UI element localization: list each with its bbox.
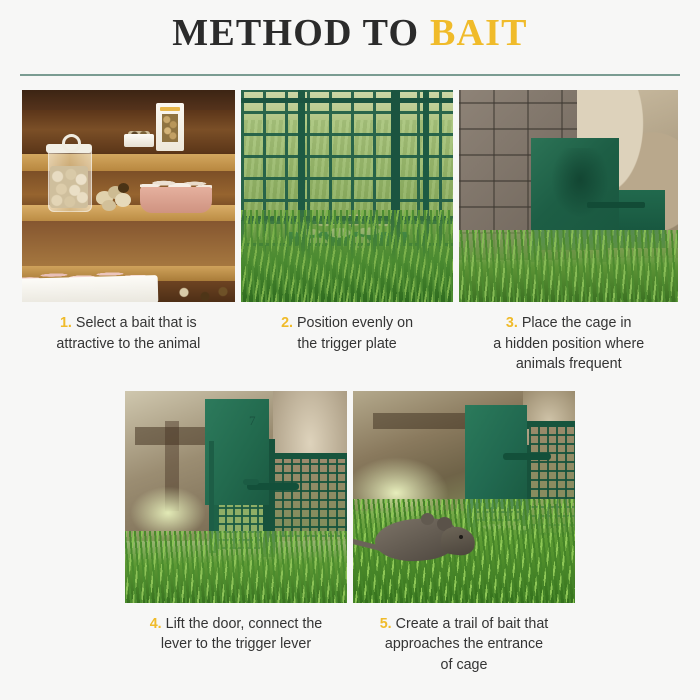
step-2-photo <box>241 90 454 302</box>
step-2-number: 2. <box>281 315 293 331</box>
step-4-line-2: lever to the trigger lever <box>161 636 311 652</box>
foreground-grass <box>459 230 678 302</box>
page-title-main: METHOD TO <box>172 12 430 54</box>
loose-nut <box>118 183 129 193</box>
trigger-lever <box>503 453 551 460</box>
step-card-4: 7 4. Lift the door, connect the lever to… <box>125 391 347 676</box>
step-3-number: 3. <box>506 315 518 331</box>
step-3-line-2: a hidden position where <box>493 336 644 352</box>
step-card-2: 2. Position evenly on the trigger plate <box>241 90 454 375</box>
step-5-caption: 5. Create a trail of bait that approache… <box>353 614 575 676</box>
step-3-line-1: Place the cage in <box>522 315 632 331</box>
scattered-bait <box>172 286 232 302</box>
step-4-caption: 4. Lift the door, connect the lever to t… <box>125 614 347 655</box>
rodent-eye <box>459 535 463 539</box>
rodent-ear <box>421 513 434 525</box>
seed-bag-window <box>162 114 178 142</box>
step-2-line-2: the trigger plate <box>297 336 396 352</box>
trap-lever-bar <box>587 202 645 208</box>
step-card-3: 3. Place the cage in a hidden position w… <box>459 90 678 375</box>
loose-nut <box>102 200 116 211</box>
door-number-marking: 7 <box>249 413 256 429</box>
step-2-caption: 2. Position evenly on the trigger plate <box>241 313 454 354</box>
cage-body-mesh <box>273 459 347 537</box>
step-card-5: 5. Create a trail of bait that approache… <box>353 391 575 676</box>
small-dish <box>124 134 154 147</box>
seed-bag-label <box>160 107 180 111</box>
page-title: METHOD TO BAIT <box>172 14 527 52</box>
foreground-grass <box>241 210 454 302</box>
step-1-number: 1. <box>60 315 72 331</box>
shelf-back-lower <box>22 221 235 266</box>
cage-rail-top <box>241 98 454 103</box>
step-5-line-1: Create a trail of bait that <box>396 616 549 632</box>
jar-nuts <box>50 166 88 208</box>
page-header: METHOD TO BAIT <box>0 0 700 52</box>
jar-knob <box>62 134 81 153</box>
white-tray <box>22 275 158 302</box>
lever-hook <box>243 479 259 485</box>
step-5-line-2: approaches the entrance <box>385 636 543 652</box>
step-1-caption: 1. Select a bait that is attractive to t… <box>22 313 235 354</box>
steps-row-bottom: 7 4. Lift the door, connect the lever to… <box>0 391 700 676</box>
pink-bowl <box>140 187 212 213</box>
step-4-photo: 7 <box>125 391 347 603</box>
step-1-line-2: attractive to the animal <box>56 336 200 352</box>
wood-background <box>22 90 235 110</box>
step-2-line-1: Position evenly on <box>297 315 413 331</box>
step-1-photo <box>22 90 235 302</box>
loose-nut <box>115 193 131 207</box>
step-card-1: 1. Select a bait that is attractive to t… <box>22 90 235 375</box>
step-1-line-1: Select a bait that is <box>76 315 197 331</box>
foreground-grass <box>125 531 347 603</box>
steps-row-top: 1. Select a bait that is attractive to t… <box>0 90 700 375</box>
step-5-number: 5. <box>380 616 392 632</box>
step-4-number: 4. <box>150 616 162 632</box>
step-3-photo <box>459 90 678 302</box>
step-4-line-1: Lift the door, connect the <box>166 616 323 632</box>
page-title-accent: BAIT <box>430 12 528 54</box>
step-5-photo <box>353 391 575 603</box>
step-5-line-3: of cage <box>441 657 488 673</box>
step-3-line-3: animals frequent <box>516 356 622 372</box>
step-3-caption: 3. Place the cage in a hidden position w… <box>459 313 678 375</box>
header-divider <box>20 74 680 76</box>
